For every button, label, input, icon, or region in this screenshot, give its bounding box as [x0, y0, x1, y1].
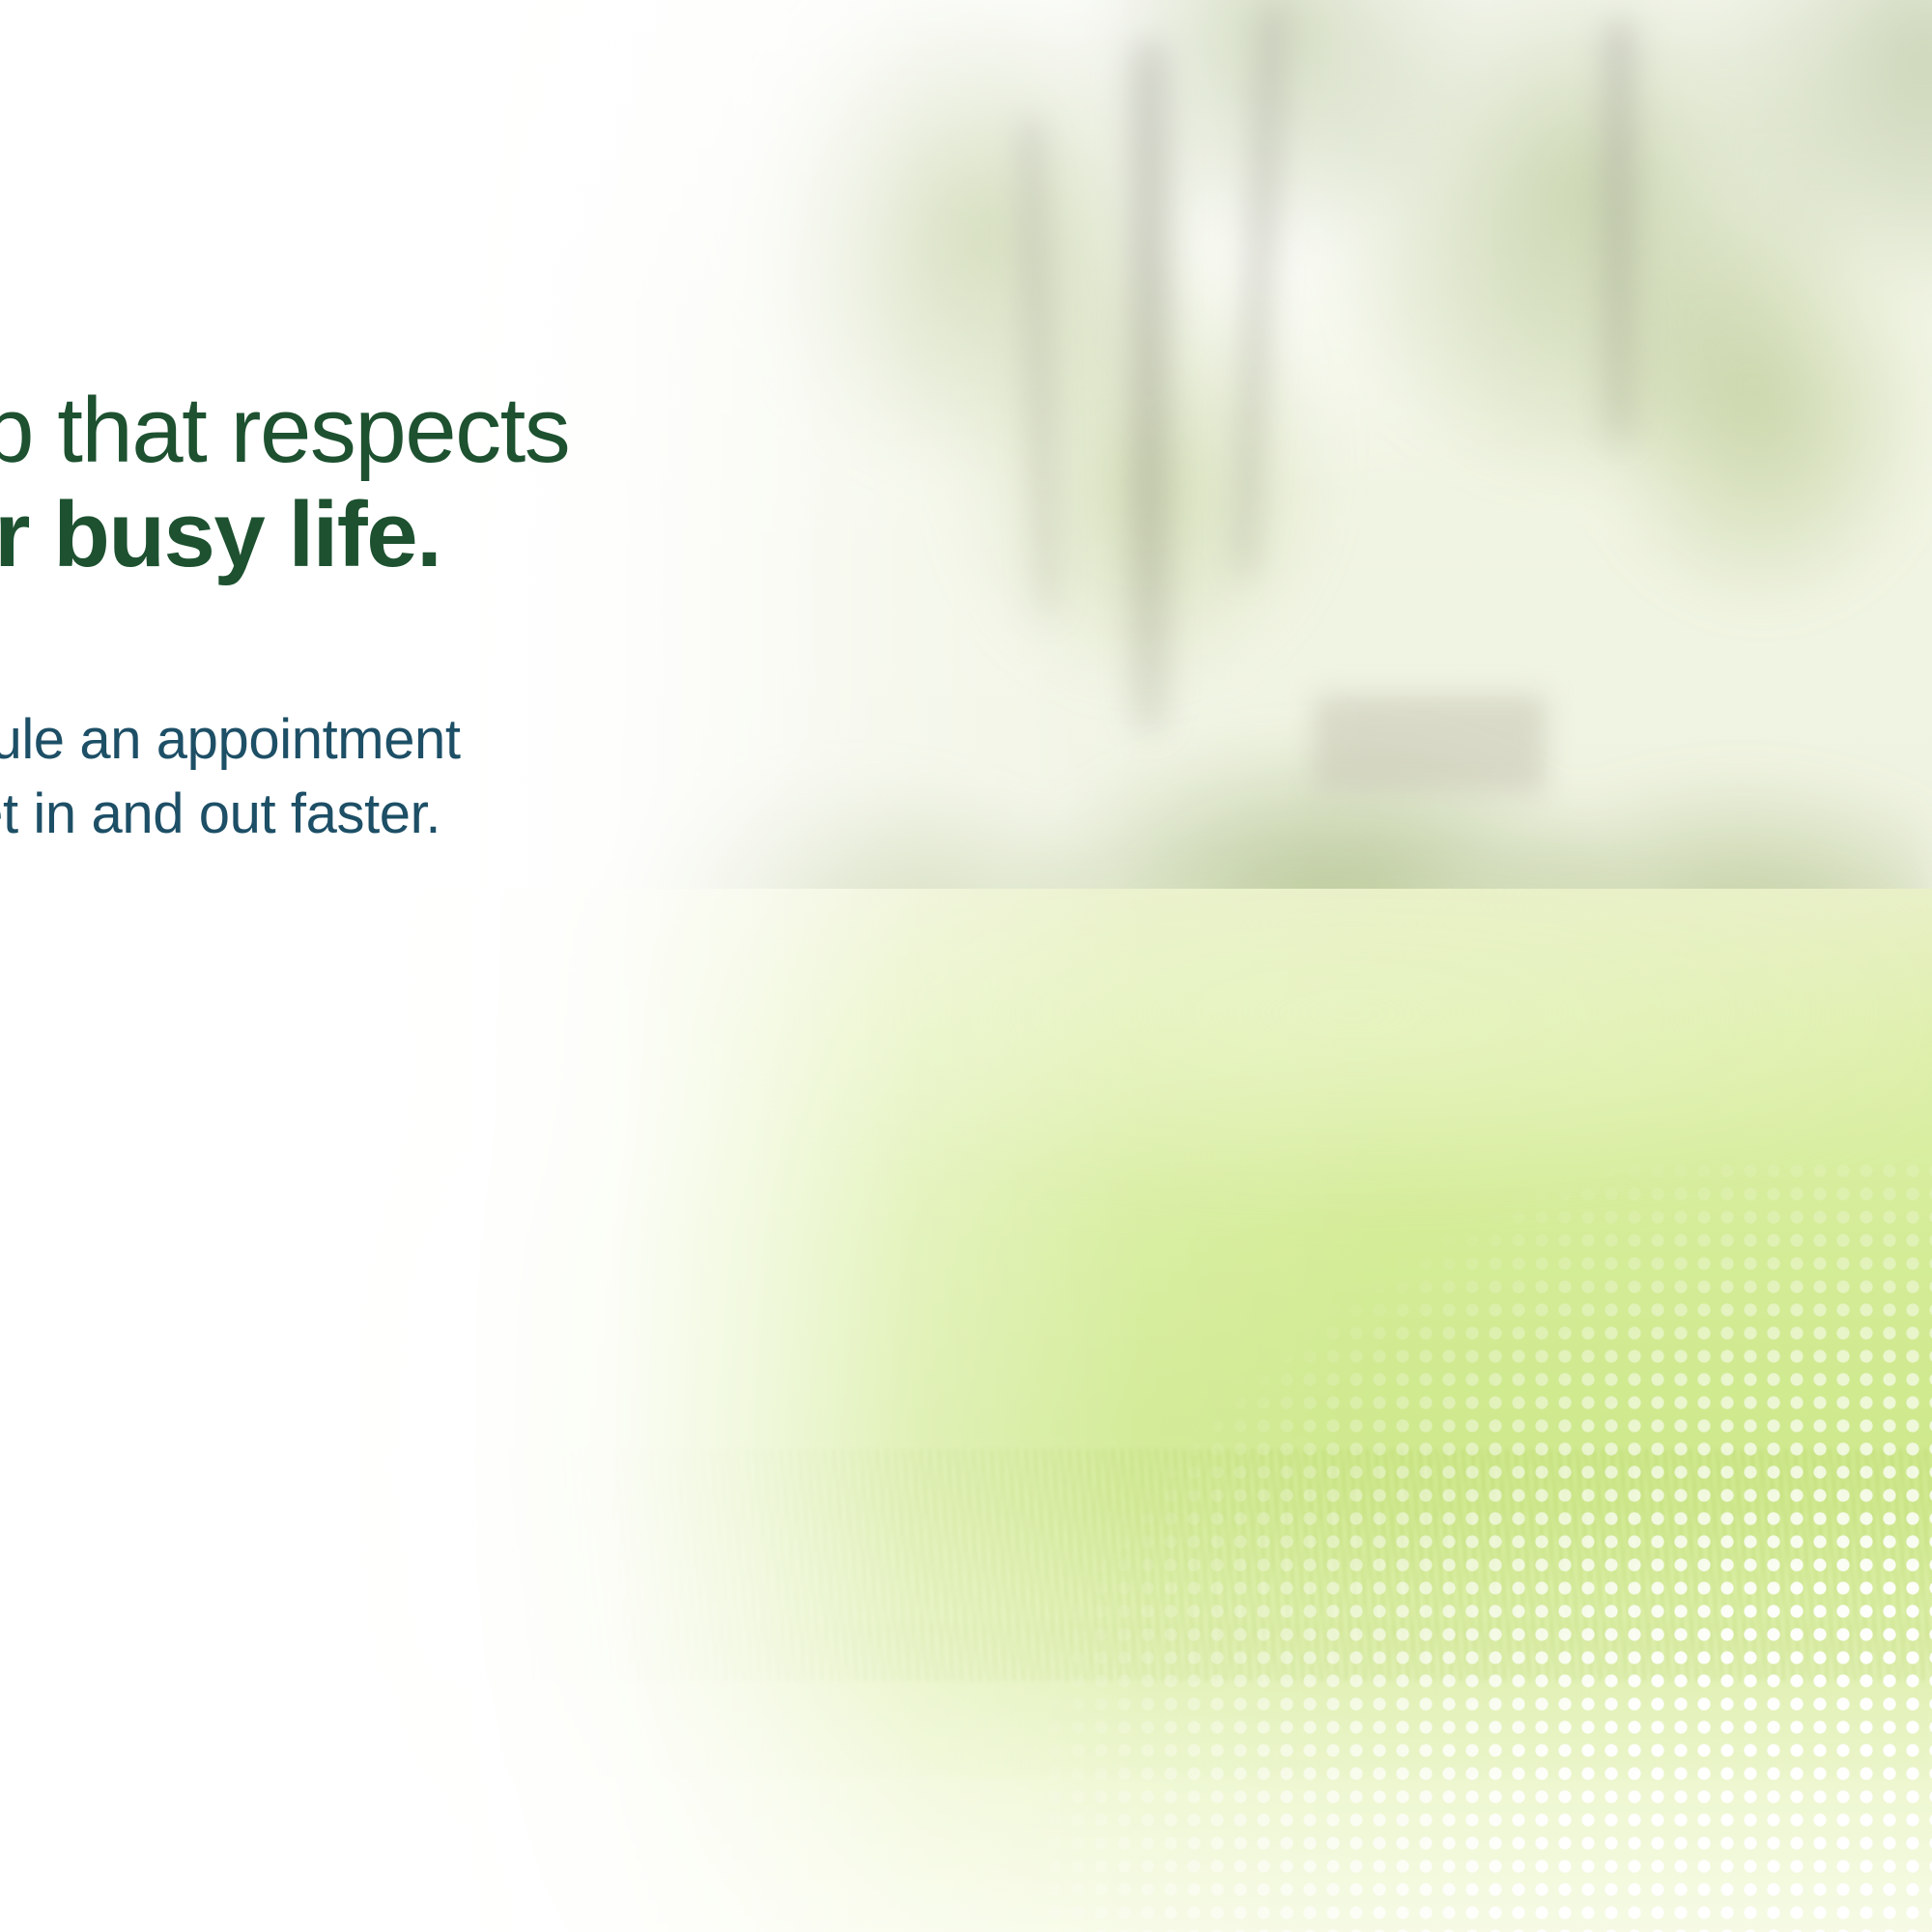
headline-line-1: A lab that respects — [0, 379, 569, 482]
hero-headline: A lab that respects your busy life. — [0, 379, 703, 588]
subcopy-line-1: Schedule an appointment — [0, 708, 461, 771]
subcopy-line-2: and get in and out faster. — [0, 777, 703, 851]
tree-trunk — [1604, 19, 1634, 444]
grass-texture — [0, 1623, 1932, 1777]
hero-photograph — [0, 0, 1932, 1932]
tree-trunk — [1130, 39, 1169, 734]
hero-banner: A lab that respects your busy life. Sche… — [0, 0, 1932, 1932]
hero-subcopy: Schedule an appointment and get in and o… — [0, 588, 703, 851]
park-bench — [1314, 696, 1546, 792]
hero-copy-block: A lab that respects your busy life. Sche… — [0, 379, 703, 851]
headline-line-2: your busy life. — [0, 483, 703, 587]
